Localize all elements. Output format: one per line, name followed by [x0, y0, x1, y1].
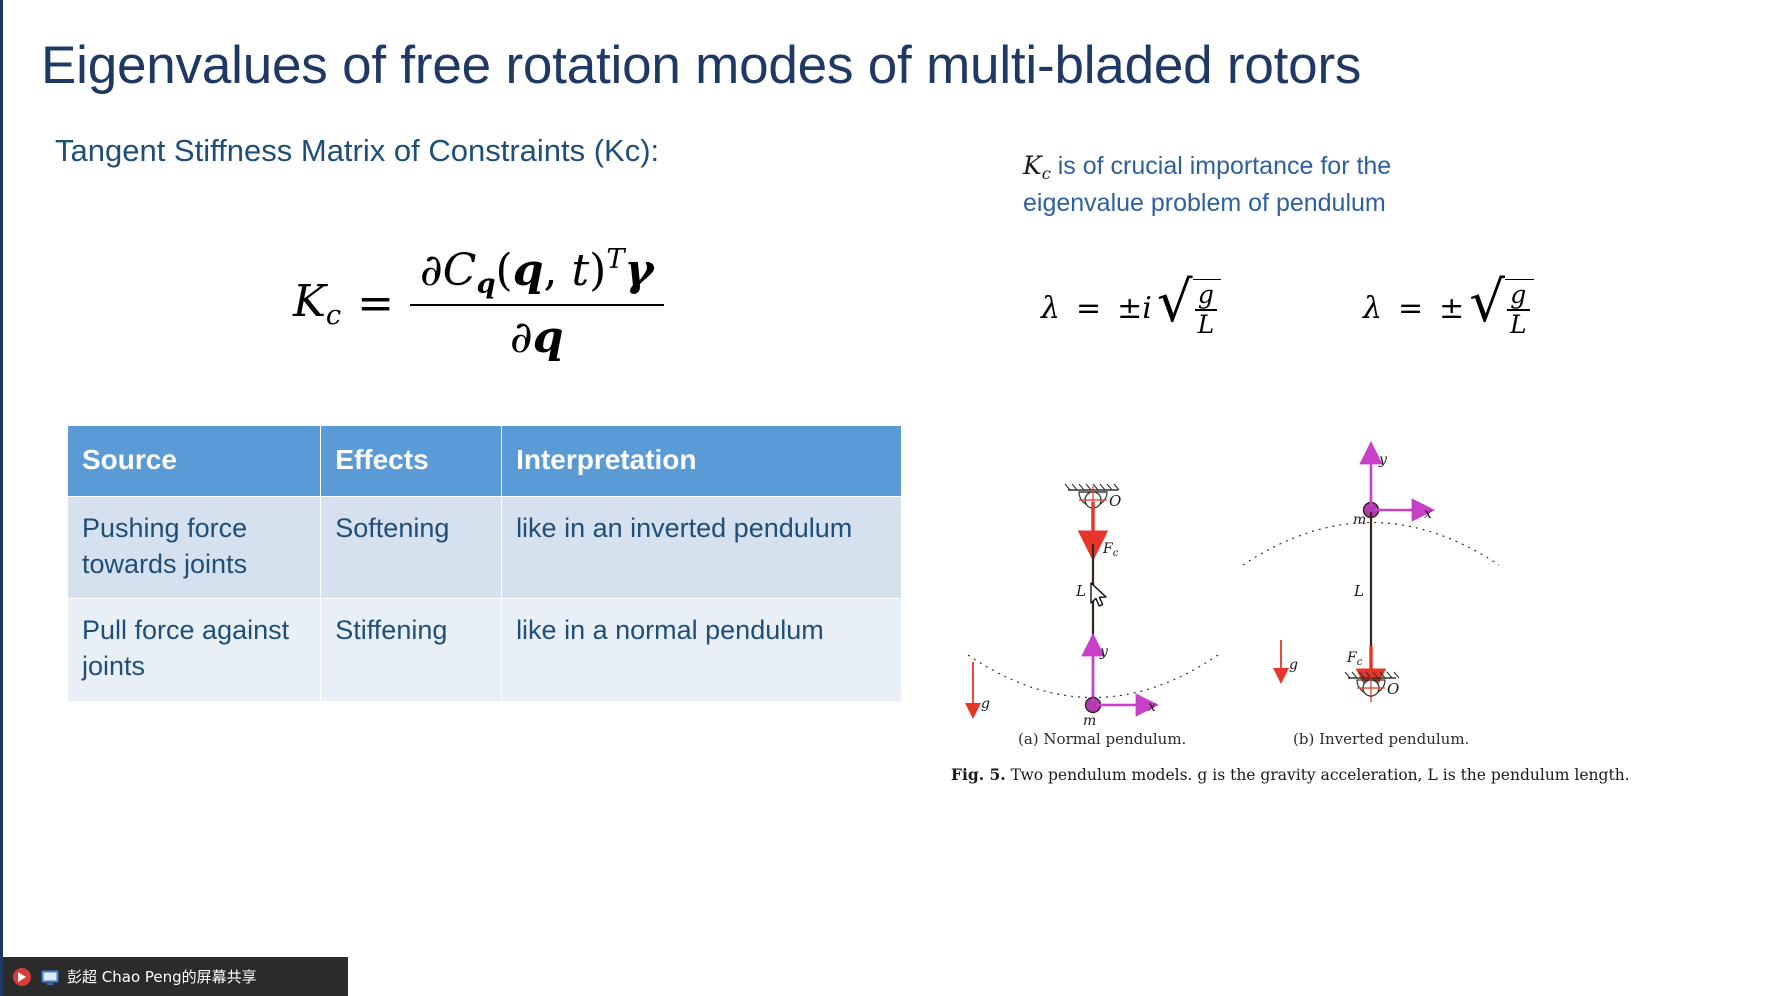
figure-5-caption: Fig. 5. Two pendulum models. g is the gr… [951, 765, 1630, 784]
plus-minus-sign: ± [1439, 291, 1464, 326]
kc-symbol: Kc [1023, 151, 1051, 180]
equation-equals: = [1398, 291, 1423, 326]
meeting-app-icon[interactable] [11, 966, 33, 988]
table-header-row: Source Effects Interpretation [68, 426, 901, 496]
partial-symbol: ∂ [420, 245, 443, 296]
comma: , [543, 245, 557, 296]
partial-symbol-den: ∂ [510, 312, 533, 363]
figure-caption-a: (a) Normal pendulum. [1018, 730, 1186, 748]
kc-importance-note: Kc is of crucial importance for the eige… [1023, 148, 1493, 222]
formula-numerator: ∂Cq(q, t)Tγ [410, 244, 664, 304]
effects-table: Source Effects Interpretation Pushing fo… [67, 425, 902, 702]
radicand: g L [1193, 279, 1222, 338]
formula-equals: = [357, 278, 394, 329]
label-Fc-b: Fc [1346, 650, 1363, 668]
label-mass-m-a: m [1083, 713, 1096, 729]
column-header-interpretation: Interpretation [502, 426, 901, 496]
kc-note-text: is of crucial importance for the eigenva… [1023, 152, 1391, 217]
pendulum-figure: O Fc L m y x g [943, 440, 1553, 795]
square-root: √ g L [1469, 279, 1533, 338]
label-axis-y-a: y [1099, 644, 1109, 660]
cell-interpretation: like in an inverted pendulum [502, 497, 901, 598]
constraint-C: C [443, 245, 477, 296]
formula-lhs: Kc [293, 276, 341, 331]
label-pivot-O-a: O [1109, 492, 1121, 510]
screen-share-label: 彭超 Chao Peng的屏幕共享 [67, 966, 257, 987]
coord-vector-q: q [513, 245, 544, 296]
cell-interpretation: like in a normal pendulum [502, 599, 901, 700]
paren-open: ( [496, 245, 513, 296]
label-gravity-g-a: g [981, 696, 990, 712]
label-axis-x-b: x [1424, 506, 1432, 522]
figure-5-text: Two pendulum models. g is the gravity ac… [1011, 766, 1630, 784]
radical-glyph: √ [1469, 279, 1505, 338]
tangent-stiffness-formula: Kc = ∂Cq(q, t)Tγ ∂q [293, 244, 664, 363]
equation-equals: = [1076, 291, 1101, 326]
normal-pendulum-group: O Fc L m y x g [968, 484, 1218, 729]
cell-effects: Softening [321, 497, 501, 598]
equation-inverted-pendulum: λ = ± √ g L [1363, 279, 1534, 338]
table-body: Pushing force towards joints Softening l… [68, 497, 901, 701]
screen-share-icon[interactable] [39, 966, 61, 988]
label-axis-x-a: x [1148, 699, 1156, 715]
column-header-effects: Effects [321, 426, 501, 496]
cell-effects: Stiffening [321, 599, 501, 700]
inverted-pendulum-group: m y x L Fc [1243, 452, 1499, 702]
formula-fraction: ∂Cq(q, t)Tγ ∂q [410, 244, 664, 363]
formula-lhs-subscript: c [326, 300, 341, 331]
gamma-symbol: γ [625, 245, 654, 296]
formula-lhs-symbol: K [293, 276, 326, 327]
table-header: Source Effects Interpretation [68, 426, 901, 496]
transpose-superscript: T [606, 244, 624, 275]
lambda-symbol: λ [1363, 291, 1382, 326]
square-root: √ g L [1157, 279, 1221, 338]
column-header-source: Source [68, 426, 320, 496]
time-t: t [571, 245, 589, 296]
label-Fc-a: Fc [1102, 541, 1119, 559]
radicand-denominator: L [1195, 312, 1218, 338]
radicand: g L [1505, 279, 1534, 338]
radicand-denominator: L [1507, 312, 1530, 338]
figure-5-label: Fig. 5. [951, 765, 1006, 784]
kc-symbol-subscript: c [1042, 164, 1051, 183]
radicand-numerator: g [1195, 282, 1217, 308]
label-mass-m-b: m [1353, 512, 1366, 528]
label-pivot-O-b: O [1387, 680, 1399, 698]
label-length-L-a: L [1075, 582, 1086, 600]
imaginary-unit: i [1142, 291, 1152, 326]
figure-caption-b: (b) Inverted pendulum. [1293, 730, 1469, 748]
table-row: Pushing force towards joints Softening l… [68, 497, 901, 598]
radical-glyph: √ [1157, 279, 1193, 338]
cell-source: Pull force against joints [68, 599, 320, 700]
equation-normal-pendulum: λ = ±i √ g L [1041, 279, 1221, 338]
plus-minus-sign: ± [1117, 291, 1142, 326]
page-title: Eigenvalues of free rotation modes of mu… [41, 36, 1361, 95]
formula-denominator: ∂q [500, 306, 574, 363]
label-gravity-g-b: g [1289, 657, 1298, 673]
screen-share-taskbar[interactable]: 彭超 Chao Peng的屏幕共享 [3, 957, 348, 996]
label-axis-y-b: y [1378, 452, 1388, 468]
radicand-numerator: g [1507, 282, 1529, 308]
paren-close: ) [589, 245, 606, 296]
label-length-L-b: L [1353, 582, 1364, 600]
coord-vector-q-den: q [533, 312, 564, 363]
cell-source: Pushing force towards joints [68, 497, 320, 598]
section-subtitle: Tangent Stiffness Matrix of Constraints … [55, 133, 659, 169]
lambda-symbol: λ [1041, 291, 1060, 326]
presentation-slide: Eigenvalues of free rotation modes of mu… [0, 0, 1768, 996]
kc-symbol-letter: K [1023, 151, 1042, 180]
eigenvalue-equations: λ = ±i √ g L λ = ± √ g L [1023, 275, 1523, 355]
table-row: Pull force against joints Stiffening lik… [68, 599, 901, 700]
constraint-C-subscript: q [476, 268, 495, 300]
